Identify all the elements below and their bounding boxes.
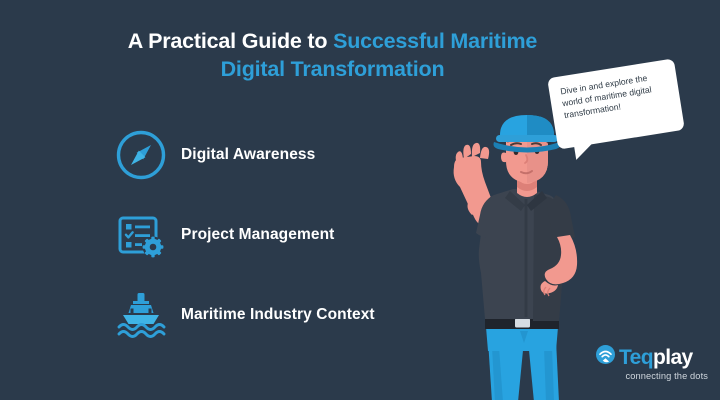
logo-word-primary: Teq xyxy=(619,346,653,369)
logo-word-secondary: play xyxy=(653,346,693,369)
list-item-label: Project Management xyxy=(181,226,334,244)
title-line-1: A Practical Guide to Successful Maritime xyxy=(60,28,605,56)
title-plain-text: A Practical Guide to xyxy=(128,29,333,53)
title-line-2: Digital Transformation xyxy=(60,56,605,84)
list-item[interactable]: Project Management xyxy=(112,204,472,266)
logo-tagline: connecting the dots xyxy=(596,371,708,381)
title-accent-text-1: Successful Maritime xyxy=(333,29,537,53)
compass-icon xyxy=(112,126,170,184)
feature-list: Digital Awareness xyxy=(112,124,472,364)
list-item[interactable]: Maritime Industry Context xyxy=(112,284,472,346)
list-item[interactable]: Digital Awareness xyxy=(112,124,472,186)
speech-bubble-tail xyxy=(574,142,596,160)
clipboard-gear-icon xyxy=(112,206,170,264)
wifi-signal-icon xyxy=(596,345,615,369)
list-item-label: Maritime Industry Context xyxy=(181,306,375,324)
teqplay-logo[interactable]: Teqplay connecting the dots xyxy=(596,345,708,381)
poster-canvas: A Practical Guide to Successful Maritime… xyxy=(0,0,720,400)
list-item-label: Digital Awareness xyxy=(181,146,315,164)
ship-waves-icon xyxy=(112,286,170,344)
page-title: A Practical Guide to Successful Maritime… xyxy=(60,28,605,83)
logo-top-row: Teqplay xyxy=(596,345,708,369)
logo-wordmark: Teqplay xyxy=(619,347,693,368)
